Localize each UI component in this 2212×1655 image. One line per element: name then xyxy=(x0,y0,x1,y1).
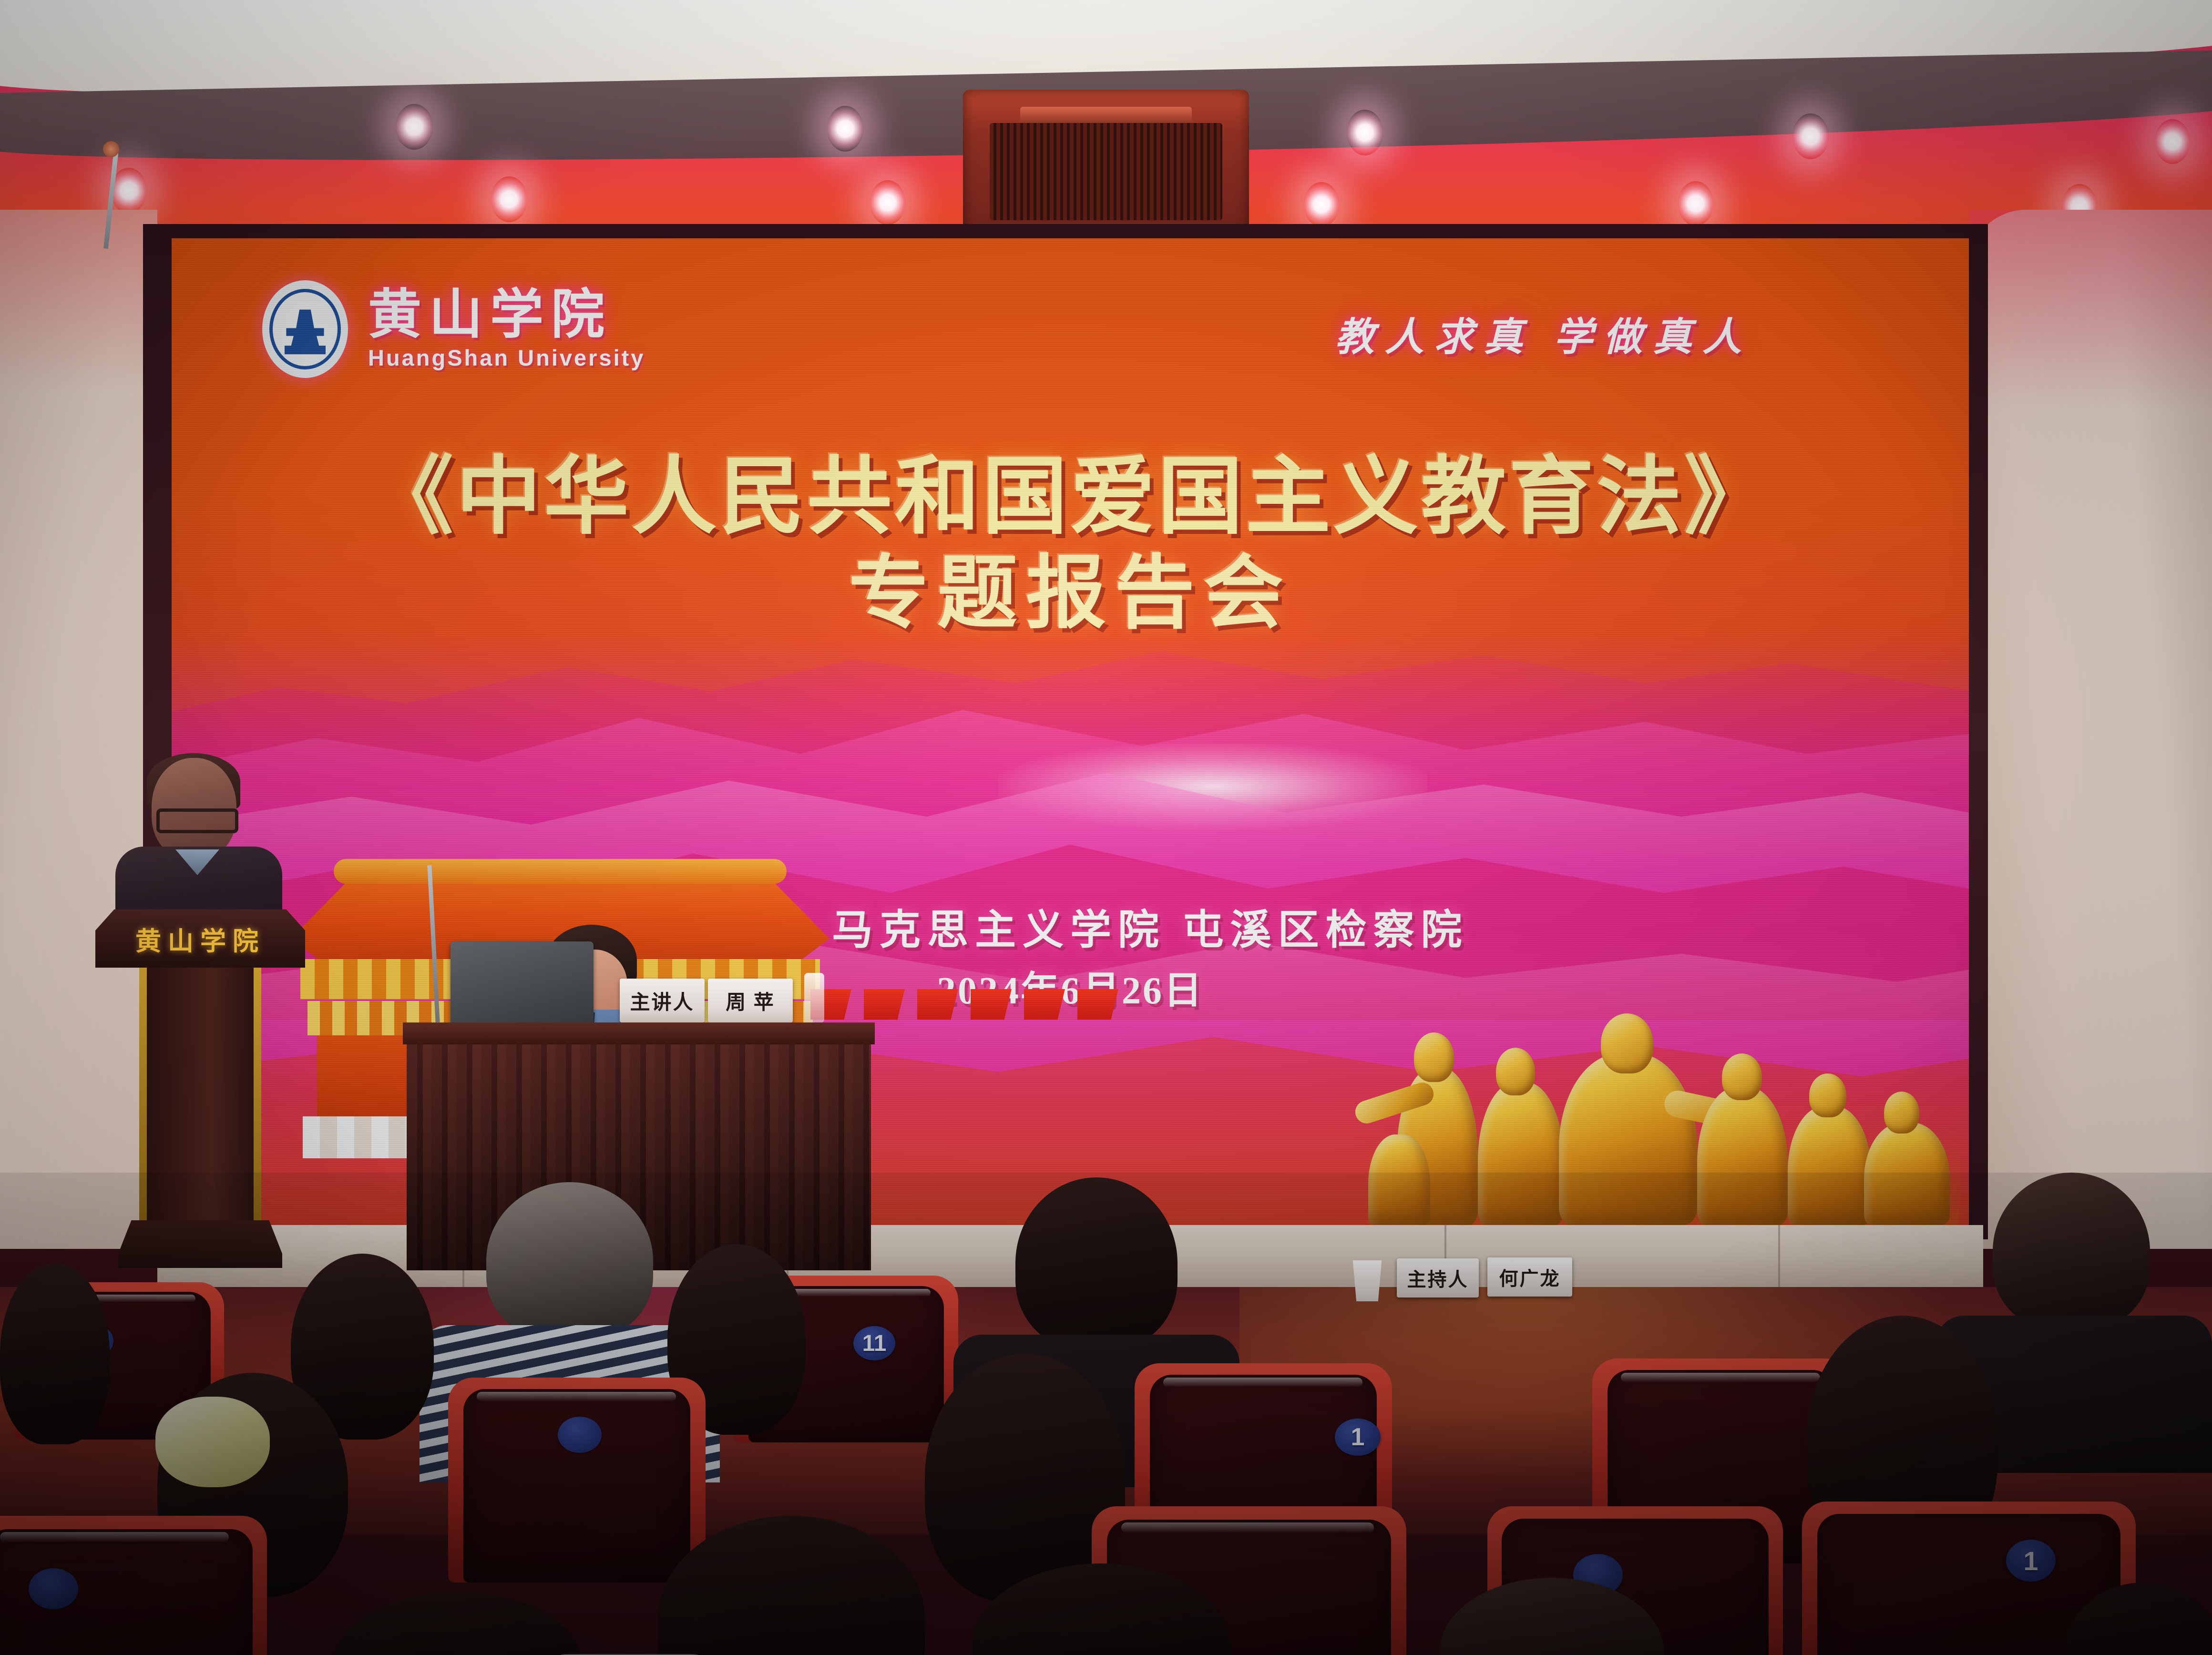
gate-ridge xyxy=(334,859,787,884)
red-flag-icon xyxy=(1024,989,1065,1020)
seat-number-badge: 11 xyxy=(853,1326,895,1360)
university-logo: 黄山学院 HuangShan University xyxy=(262,280,645,378)
downlight-icon xyxy=(870,180,905,225)
laptop-icon xyxy=(451,941,594,1027)
table-top xyxy=(403,1022,875,1044)
chair-highlight xyxy=(477,1392,676,1401)
red-flag-icon xyxy=(971,989,1012,1020)
red-flag-icon xyxy=(1077,989,1118,1020)
seat-number-badge xyxy=(558,1417,602,1453)
red-flags-row xyxy=(810,989,1118,1020)
audience-head xyxy=(1993,1173,2150,1330)
university-motto: 教人求真 学做真人 xyxy=(1335,305,1752,362)
ac-vent-icon xyxy=(963,90,1249,233)
table-nameplate-name-text: 周 苹 xyxy=(726,986,775,1015)
university-logo-text: 黄山学院 HuangShan University xyxy=(368,287,645,371)
chair-highlight xyxy=(1163,1378,1362,1387)
glasses-icon xyxy=(156,808,238,833)
downlight-icon xyxy=(396,104,433,150)
red-flag-icon xyxy=(864,989,905,1020)
water-bottle-icon xyxy=(804,973,824,1022)
university-name-chinese: 黄山学院 xyxy=(368,287,645,342)
wall-left-light-tint xyxy=(0,210,157,391)
chair-highlight xyxy=(0,1532,229,1543)
downlight-icon xyxy=(491,176,527,222)
sculpture-head xyxy=(1601,1013,1653,1073)
auditorium-photo-scene: 黄山学院 HuangShan University 教人求真 学做真人 《中华人… xyxy=(0,0,2212,1655)
sculpture-head xyxy=(1809,1073,1846,1117)
university-seal-icon xyxy=(262,280,348,378)
downlight-icon xyxy=(1792,113,1829,159)
seal-glyph-icon xyxy=(285,306,326,354)
podium-label: 黄山学院 xyxy=(95,920,305,958)
sculpture-head xyxy=(1884,1092,1919,1134)
audience-head xyxy=(334,1592,582,1655)
downlight-icon xyxy=(827,106,863,152)
table-nameplate-role-text: 主讲人 xyxy=(630,986,694,1015)
chair-highlight xyxy=(1621,1373,1820,1382)
audience-head xyxy=(1015,1177,1178,1349)
sculpture-head xyxy=(1414,1032,1454,1082)
seat-number-badge xyxy=(29,1568,78,1609)
downlight-icon xyxy=(1678,181,1713,226)
university-name-english: HuangShan University xyxy=(368,345,645,371)
sculpture-head xyxy=(1722,1053,1762,1100)
table-nameplate-name: 周 苹 xyxy=(708,979,793,1022)
seat-number-badge: 1 xyxy=(1335,1419,1381,1456)
podium-microphone-icon xyxy=(103,141,119,157)
audience-head xyxy=(0,1263,110,1444)
wall-right-light-tint xyxy=(1969,210,2212,410)
downlight-icon xyxy=(2155,119,2190,164)
sculpture-head xyxy=(1496,1048,1535,1095)
chair-highlight xyxy=(1121,1522,1374,1533)
seat-number-badge: 1 xyxy=(2006,1540,2056,1582)
downlight-icon xyxy=(111,168,147,214)
audience-seating: 10 11 1 xyxy=(0,1173,2212,1655)
red-flag-icon xyxy=(917,989,958,1020)
downlight-icon xyxy=(1347,110,1383,155)
presentation-subheadline: 专题报告会 xyxy=(172,528,1969,644)
downlight-icon xyxy=(1304,182,1339,227)
table-nameplate-role: 主讲人 xyxy=(620,979,705,1022)
audience-head xyxy=(486,1182,653,1339)
hair-scrunchie-icon xyxy=(155,1397,270,1487)
